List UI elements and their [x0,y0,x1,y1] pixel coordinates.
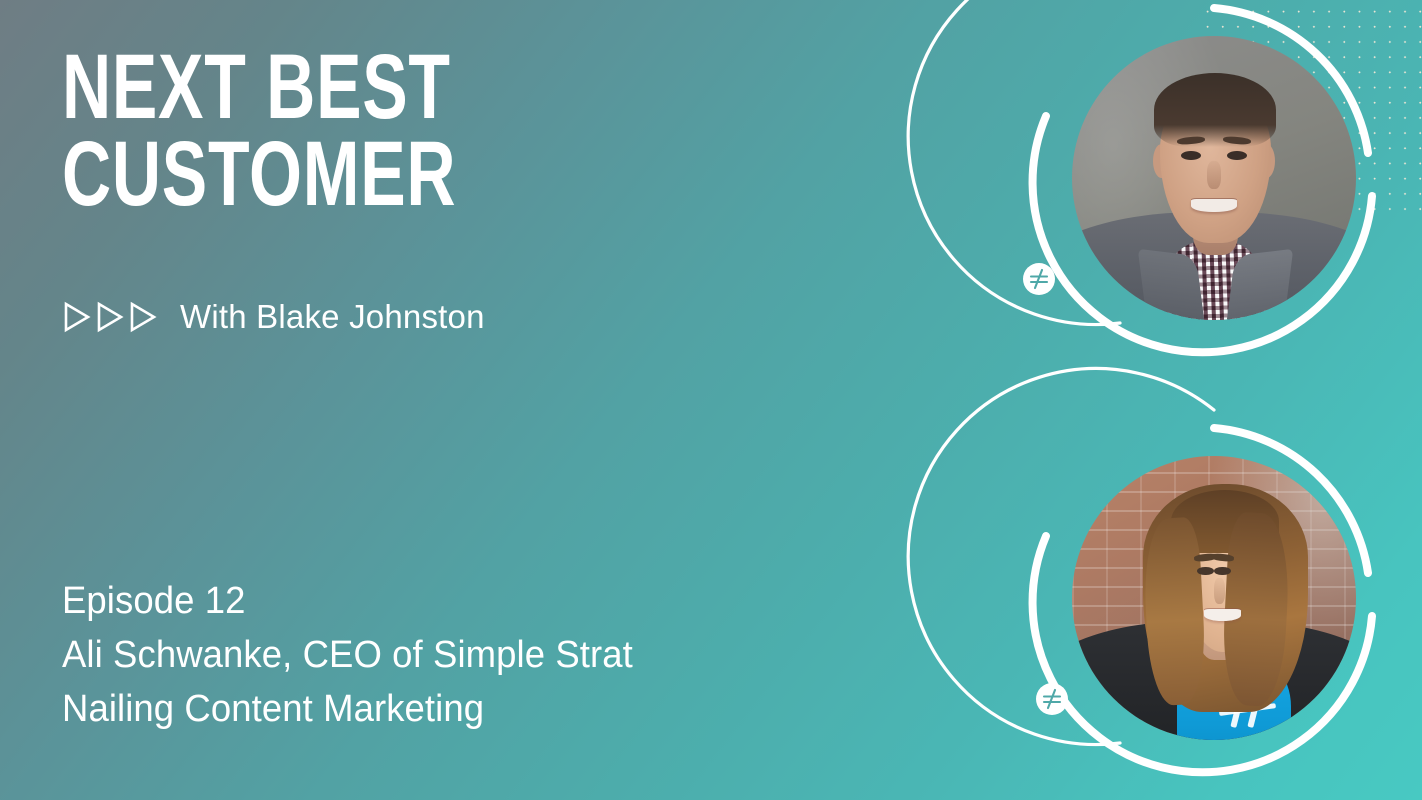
play-triangle-icon [95,300,125,334]
show-title-line-1: NEXT BEST [62,44,456,131]
host-portrait-image [1072,36,1356,320]
guest-portrait-image [1072,456,1356,740]
host-speaker-block [1000,0,1400,378]
play-triangle-icon [128,300,158,334]
host-byline: With Blake Johnston [62,298,485,336]
guest-badge [1036,683,1068,715]
play-triangle-icon [62,300,92,334]
podcast-episode-cover: NEXT BEST CUSTOMER With Blake Johnston E… [0,0,1422,800]
not-equal-badge-icon [1036,683,1068,715]
episode-topic: Nailing Content Marketing [62,683,633,737]
host-badge [1023,263,1055,295]
guest-portrait-photo [1072,456,1356,740]
not-equal-badge-icon [1023,263,1055,295]
play-triangles-decoration [62,300,158,334]
host-portrait-photo [1072,36,1356,320]
episode-number: Episode 12 [62,575,633,629]
guest-speaker-block [1000,398,1400,798]
show-title-line-2: CUSTOMER [62,131,456,218]
byline-text: With Blake Johnston [180,298,485,336]
episode-guest: Ali Schwanke, CEO of Simple Strat [62,629,633,683]
show-title: NEXT BEST CUSTOMER [62,44,595,219]
episode-info: Episode 12 Ali Schwanke, CEO of Simple S… [62,575,657,737]
